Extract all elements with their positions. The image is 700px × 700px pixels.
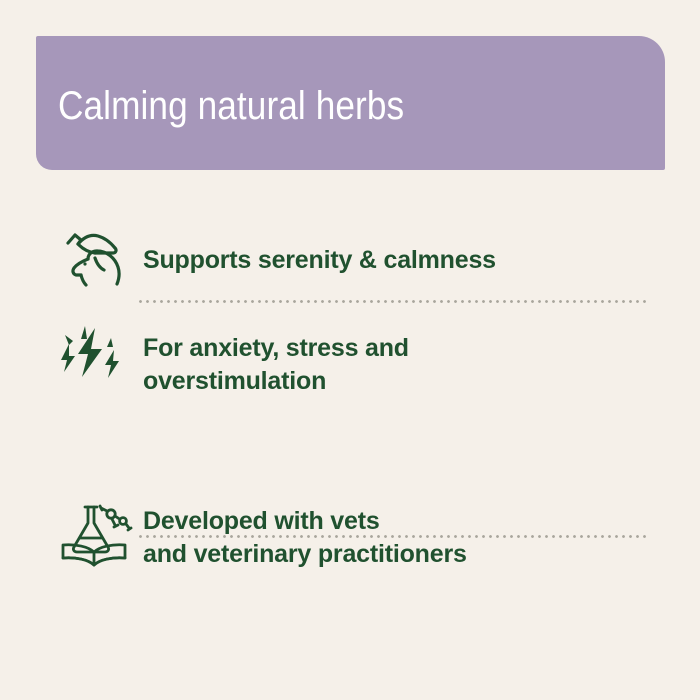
feature-item-anxiety: For anxiety, stress and overstimulation: [0, 300, 700, 435]
feature-list: Supports serenity & calmness: [0, 200, 700, 545]
page-title: Calming natural herbs: [58, 86, 404, 126]
feature-item-serenity: Supports serenity & calmness: [0, 200, 700, 300]
feature-label: Developed with vets and veterinary pract…: [143, 505, 467, 571]
lightning-bolt-burst-icon: [55, 320, 127, 382]
feature-item-vets: Developed with vets and veterinary pract…: [0, 435, 700, 545]
product-benefits-panel: Calming natural herbs: [0, 0, 700, 700]
hand-petting-dog-icon: [55, 226, 127, 288]
flask-molecule-book-icon: [55, 501, 133, 569]
feature-label: For anxiety, stress and overstimulation: [143, 332, 409, 398]
header-banner: Calming natural herbs: [36, 36, 665, 170]
feature-label: Supports serenity & calmness: [143, 244, 496, 277]
